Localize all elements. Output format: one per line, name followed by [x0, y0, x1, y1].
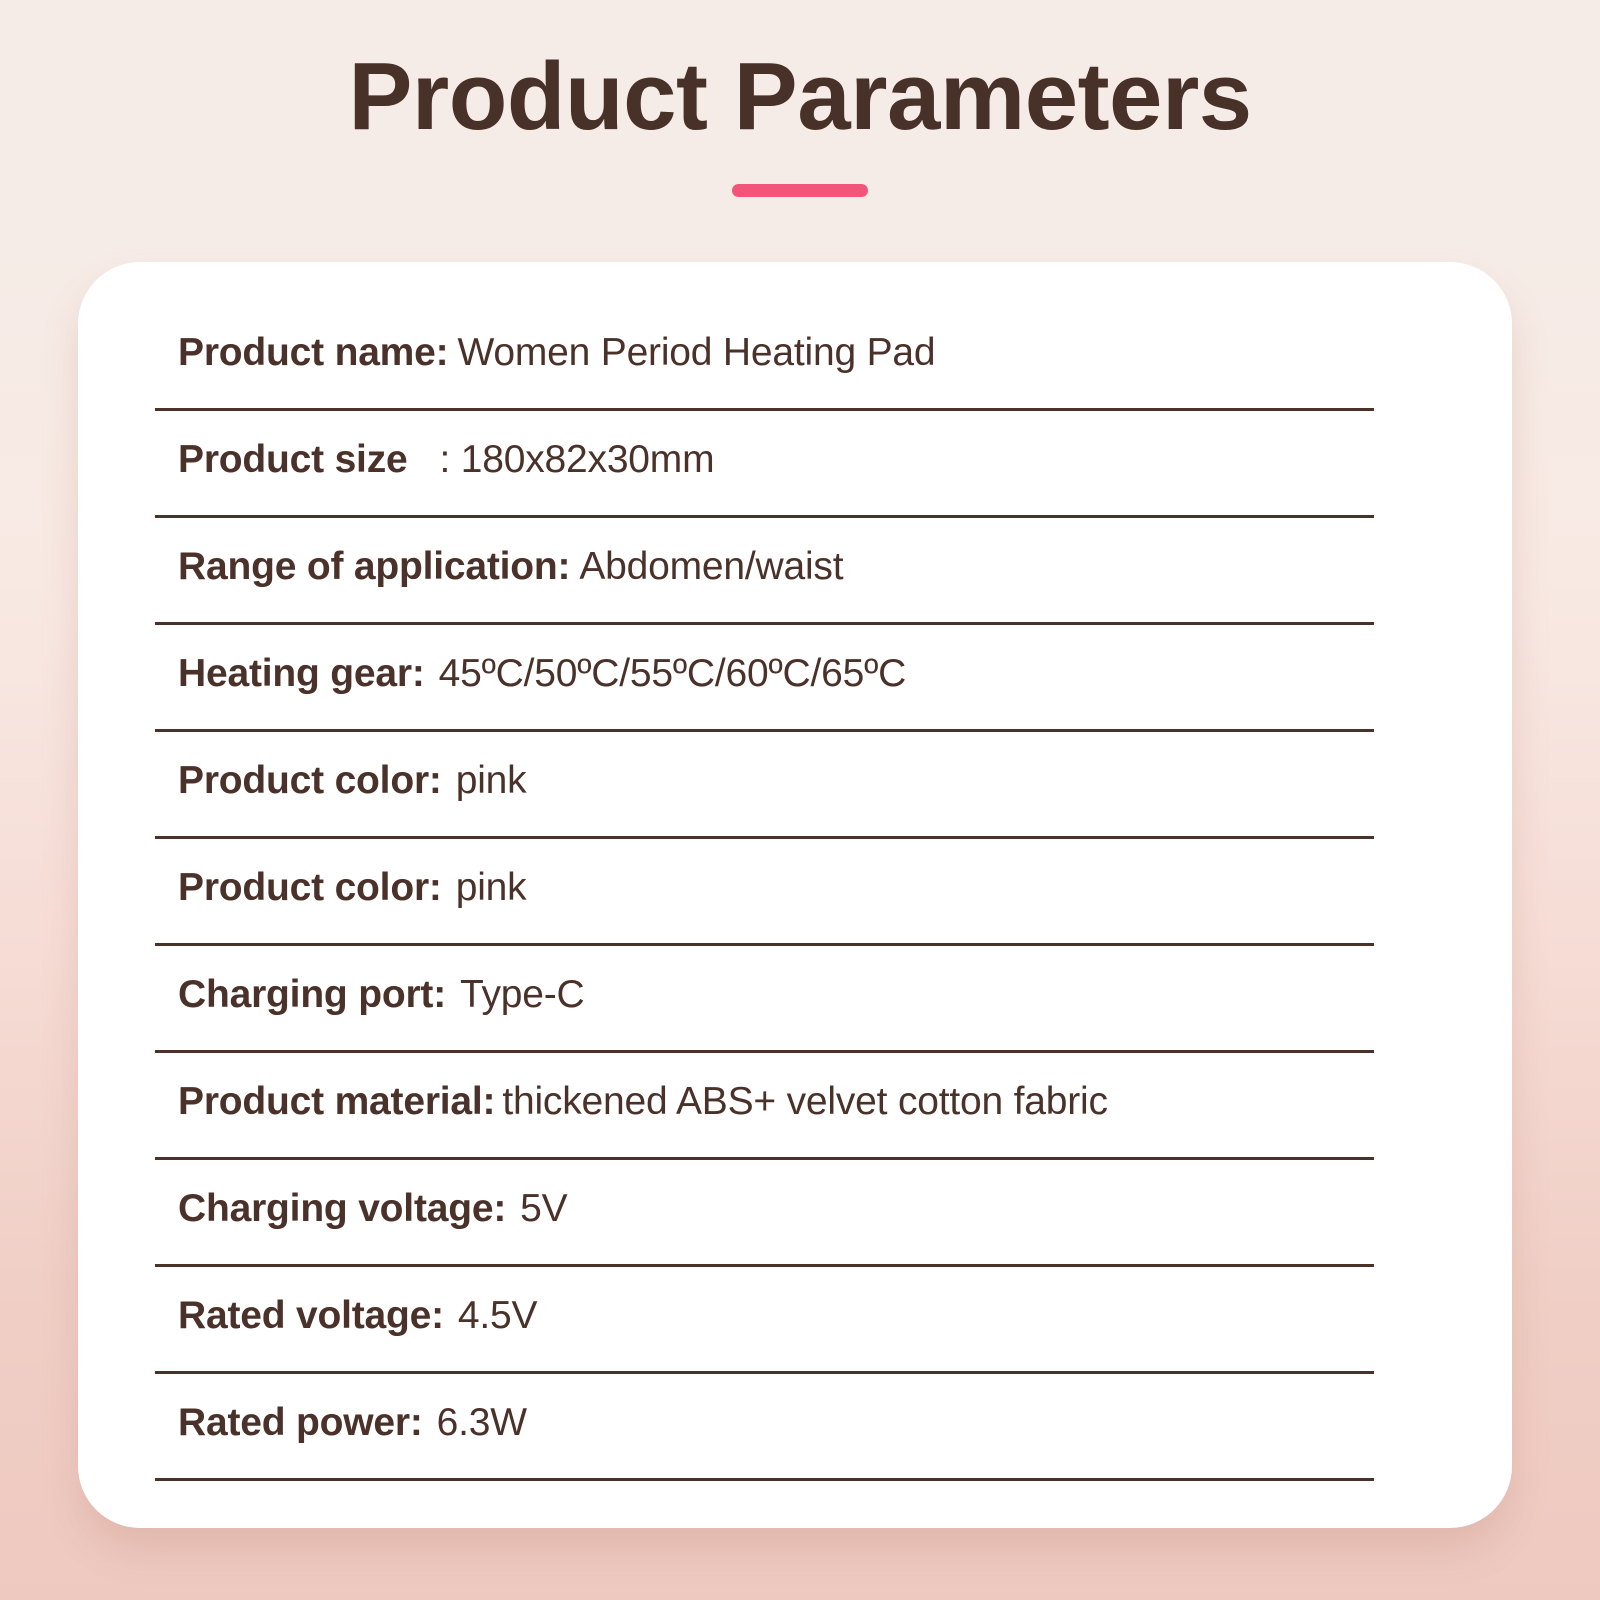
spec-label: Charging port: [178, 973, 446, 1016]
spec-row-content: Product material:thickened ABS+ velvet c… [155, 1080, 1108, 1124]
spec-row-content: Rated voltage:4.5V [155, 1294, 537, 1338]
table-row: Range of application:Abdomen/waist [155, 518, 1374, 625]
title-accent-underline [732, 184, 868, 197]
page-title: Product Parameters [0, 0, 1600, 148]
spec-label: Charging voltage: [178, 1187, 506, 1230]
spec-row-content: Charging port:Type-C [155, 973, 585, 1017]
spec-row-content: Heating gear:45ºC/50ºC/55ºC/60ºC/65ºC [155, 652, 906, 696]
spec-label: Product color: [178, 759, 442, 802]
table-row: Product color:pink [155, 732, 1374, 839]
specs-card: Product name:Women Period Heating Pad Pr… [78, 262, 1512, 1528]
table-row: Product material:thickened ABS+ velvet c… [155, 1053, 1374, 1160]
spec-row-content: Charging voltage:5V [155, 1187, 567, 1231]
table-row: Charging voltage:5V [155, 1160, 1374, 1267]
spec-label: Rated voltage: [178, 1294, 444, 1337]
spec-value: 4.5V [458, 1294, 537, 1337]
spec-row-content: Product color:pink [155, 759, 526, 803]
spec-label: Product color: [178, 866, 442, 909]
spec-label: Product material: [178, 1080, 495, 1123]
table-row: Product color:pink [155, 839, 1374, 946]
product-parameters-page: Product Parameters Product name:Women Pe… [0, 0, 1600, 1600]
spec-value: thickened ABS+ velvet cotton fabric [502, 1080, 1107, 1123]
spec-value: : 180x82x30mm [440, 438, 715, 481]
table-row: Product name:Women Period Heating Pad [155, 304, 1374, 411]
table-row: Rated power:6.3W [155, 1374, 1374, 1481]
page-header: Product Parameters [0, 0, 1600, 197]
table-row: Heating gear:45ºC/50ºC/55ºC/60ºC/65ºC [155, 625, 1374, 732]
spec-label: Product name: [178, 331, 448, 374]
spec-value: Type-C [460, 973, 585, 1016]
spec-value: Women Period Heating Pad [457, 331, 935, 374]
spec-row-content: Product size: 180x82x30mm [155, 438, 714, 482]
spec-value: pink [456, 866, 527, 909]
spec-label: Range of application: [178, 545, 570, 588]
spec-label: Rated power: [178, 1401, 423, 1444]
table-row: Rated voltage:4.5V [155, 1267, 1374, 1374]
spec-value: Abdomen/waist [579, 545, 843, 588]
spec-label: Heating gear: [178, 652, 425, 695]
spec-value: pink [456, 759, 527, 802]
spec-row-content: Range of application:Abdomen/waist [155, 545, 843, 589]
table-row: Product size: 180x82x30mm [155, 411, 1374, 518]
table-row: Charging port:Type-C [155, 946, 1374, 1053]
spec-table: Product name:Women Period Heating Pad Pr… [155, 304, 1374, 1481]
spec-value: 6.3W [437, 1401, 527, 1444]
spec-label: Product size [178, 438, 408, 481]
spec-value: 45ºC/50ºC/55ºC/60ºC/65ºC [439, 652, 907, 695]
spec-row-content: Product color:pink [155, 866, 526, 910]
spec-row-content: Rated power:6.3W [155, 1401, 527, 1445]
spec-value: 5V [520, 1187, 567, 1230]
spec-row-content: Product name:Women Period Heating Pad [155, 331, 935, 375]
